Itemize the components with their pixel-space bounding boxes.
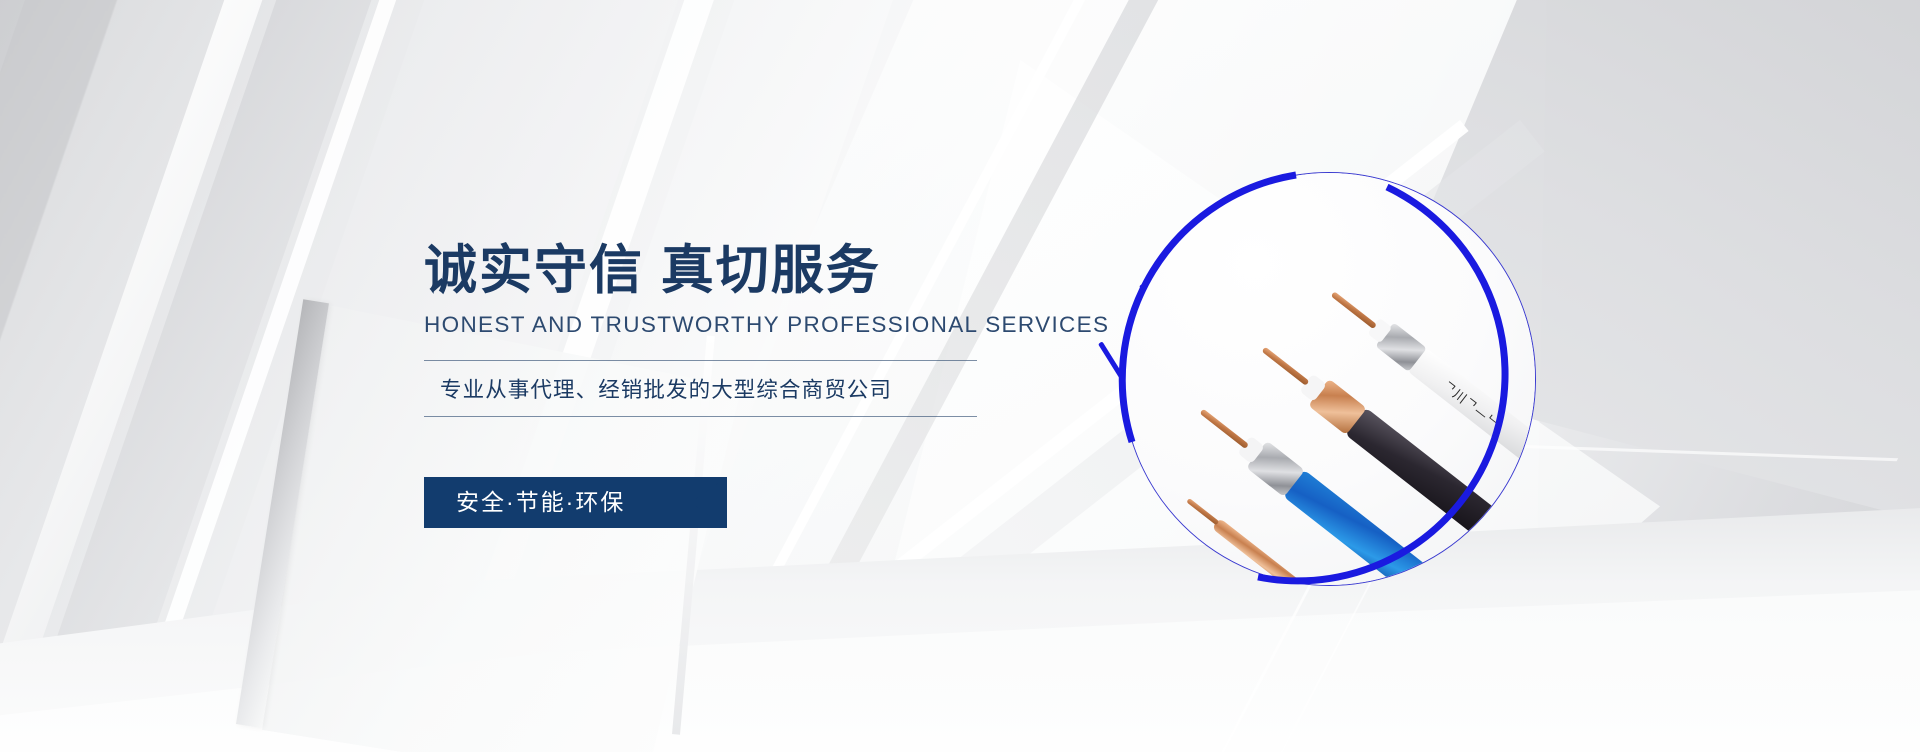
- hero-subtitle-english: HONEST AND TRUSTWORTHY PROFESSIONAL SERV…: [424, 312, 1004, 338]
- feature-ribbon-tag: 安全·节能·环保: [424, 477, 727, 528]
- hero-description: 专业从事代理、经销批发的大型综合商贸公司: [424, 361, 977, 416]
- ribbon-label: 安全·节能·环保: [424, 477, 727, 528]
- divider-bottom: [424, 416, 977, 417]
- decorative-ring-arcs: [1106, 156, 1552, 602]
- hero-text-block: 诚实守信 真切服务 HONEST AND TRUSTWORTHY PROFESS…: [424, 244, 1004, 417]
- divider-top: [424, 360, 977, 361]
- product-media: ᄀ川ᄀ—ᄂ: [1122, 172, 1536, 586]
- hero-headline: 诚实守信 真切服务: [424, 244, 1004, 297]
- hero-banner: 诚实守信 真切服务 HONEST AND TRUSTWORTHY PROFESS…: [0, 0, 1920, 752]
- hero-description-rules: 专业从事代理、经销批发的大型综合商贸公司: [424, 360, 977, 417]
